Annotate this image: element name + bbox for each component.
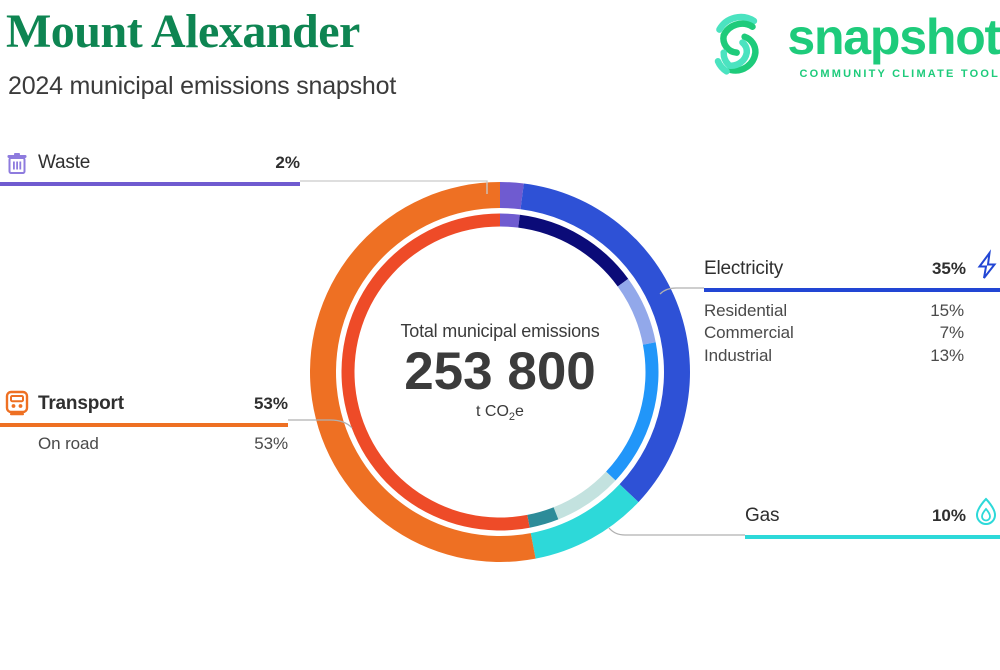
lightning-bolt-icon: [974, 251, 1000, 281]
donut-inner-ring: [342, 214, 659, 531]
category-percent-gas: 10%: [932, 506, 966, 526]
subcategory-name: Commercial: [704, 322, 794, 344]
category-name-transport: Transport: [38, 393, 124, 415]
trash-bin-icon: [6, 152, 28, 176]
page-title: Mount Alexander: [6, 4, 360, 59]
category-bar-gas: [745, 535, 1000, 539]
list-item: On road 53%: [38, 433, 288, 455]
donut-subsegment-gas-sub-b: [527, 507, 558, 527]
snapshot-spiral-logo-icon: [705, 8, 777, 80]
subcategory-name: Residential: [704, 300, 787, 322]
subcategory-name: Industrial: [704, 345, 772, 367]
flame-icon: [972, 497, 1000, 527]
category-bar-waste: [0, 182, 300, 186]
donut-segment-waste: [500, 182, 524, 209]
subcategory-list-electricity: Residential 15% Commercial 7% Industrial…: [704, 292, 964, 367]
subcategory-name: On road: [38, 433, 99, 455]
subcategory-percent: 13%: [930, 345, 964, 367]
category-panel-waste[interactable]: Waste 2%: [0, 150, 300, 186]
logo-wordmark: snapshot: [787, 12, 1000, 62]
category-name-waste: Waste: [38, 152, 90, 174]
page-subtitle: 2024 municipal emissions snapshot: [8, 72, 396, 101]
category-panel-transport[interactable]: Transport 53% On road 53%: [0, 390, 288, 455]
list-item: Industrial 13%: [704, 345, 964, 367]
list-item: Residential 15%: [704, 300, 964, 322]
category-name-gas: Gas: [745, 505, 779, 527]
snapshot-logo: snapshot COMMUNITY CLIMATE TOOL: [705, 6, 1000, 86]
subcategory-percent: 53%: [254, 433, 288, 455]
tram-icon: [4, 390, 30, 418]
category-percent-electricity: 35%: [932, 259, 966, 279]
category-name-electricity: Electricity: [704, 258, 783, 280]
logo-tagline: COMMUNITY CLIMATE TOOL: [787, 68, 1000, 80]
donut-subsegment-waste-sub: [500, 214, 520, 228]
donut-outer-ring: [310, 182, 690, 562]
list-item: Commercial 7%: [704, 322, 964, 344]
subcategory-percent: 15%: [930, 300, 964, 322]
category-panel-electricity[interactable]: Electricity 35% Residential 15% Commerci…: [704, 255, 1000, 367]
subcategory-percent: 7%: [940, 322, 964, 344]
emissions-donut-chart: [300, 172, 700, 572]
emissions-snapshot-page: Mount Alexander 2024 municipal emissions…: [0, 0, 1000, 670]
category-panel-gas[interactable]: Gas 10%: [745, 502, 1000, 539]
subcategory-list-transport: On road 53%: [0, 427, 288, 455]
category-percent-waste: 2%: [275, 153, 300, 173]
category-percent-transport: 53%: [254, 394, 288, 414]
